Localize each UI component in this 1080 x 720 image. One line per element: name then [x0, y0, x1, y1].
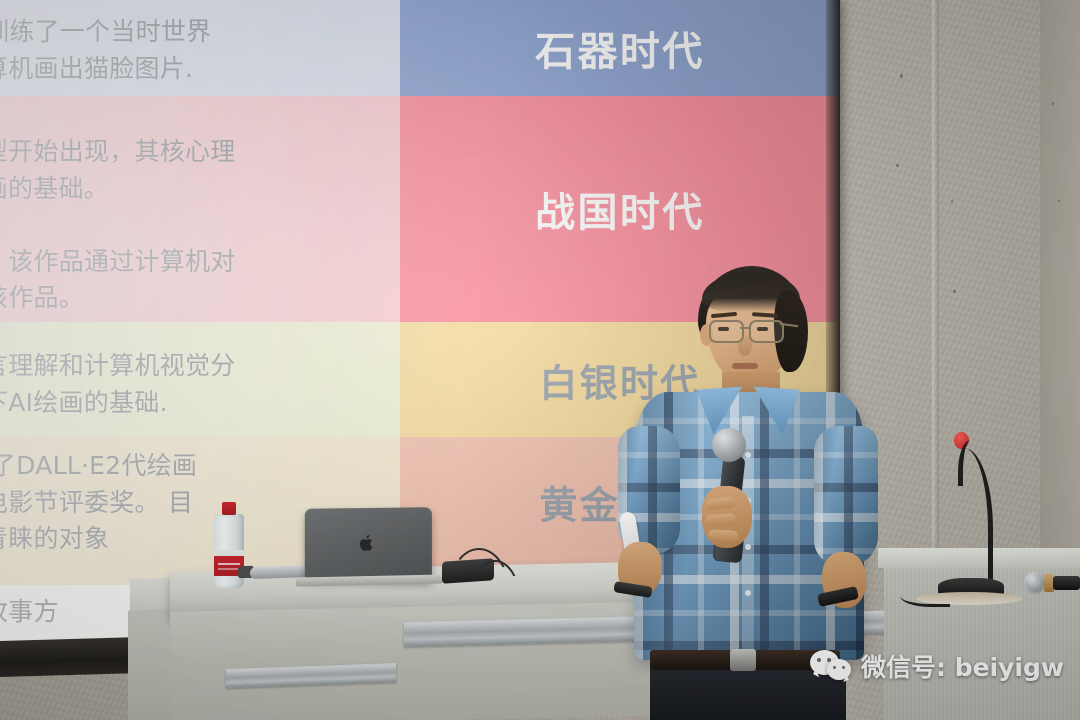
bottle-cap: [222, 502, 236, 515]
wall-speck: [896, 164, 899, 167]
presenter-mouth: [732, 363, 758, 369]
era-label-warring-states: 战国时代: [400, 180, 840, 238]
label-line: [218, 563, 240, 565]
glasses-bridge: [740, 327, 751, 329]
band-right-panel: 石器时代: [400, 0, 840, 96]
presenter-finger: [708, 529, 738, 541]
wechat-bubble-tail: [841, 675, 848, 682]
apple-logo: [359, 534, 375, 553]
glasses-lens: [749, 320, 784, 343]
watermark: 微信号: beiyigw: [810, 648, 1064, 684]
slide-text-warring-states: 度学习模型开始出现，其核心理 成为AI绘画的基础。 成的画作。该作品通过计算机对…: [0, 134, 352, 317]
wall-speck: [951, 200, 953, 203]
slide-text-stone-age: 万个CPU训练了一个当时世界 来指导计算机画出猫脸图片.: [0, 14, 352, 87]
shirt-button: [745, 452, 751, 458]
presenter-belt-buckle: [730, 649, 756, 671]
wall-speck: [1058, 200, 1060, 202]
wechat-eye-dot: [827, 658, 831, 662]
wechat-eye-dot: [833, 666, 836, 669]
macbook-laptop[interactable]: [305, 507, 432, 581]
wall-speck: [900, 74, 903, 78]
presenter-finger: [706, 513, 737, 526]
lecture-photo-scene: 石器时代 战国时代 白银时代 黄金时代: [0, 0, 1080, 720]
presenter-nose: [738, 336, 752, 356]
wechat-eye-dot: [842, 666, 845, 669]
wall-speck: [1052, 102, 1054, 105]
label-line: [218, 568, 240, 570]
shirt-shading: [814, 426, 878, 566]
era-label-stone-age: 石器时代: [400, 19, 840, 77]
wechat-icon: [810, 650, 852, 682]
presenter-right-arm: [814, 426, 878, 566]
handheld-microphone-head: [712, 428, 746, 462]
slide-text-silver-age: 行自然语言理解和计算机视觉分 成为了当下AI绘画的基础.: [0, 348, 352, 421]
slide-text-golden-age: AI 也发布了DALL·E2代绘画 获得戛纳电影节评委奖。 目 型，成为青睐的对…: [0, 448, 352, 558]
shirt-button: [745, 544, 751, 550]
wall-speck: [953, 290, 956, 293]
wechat-eye-dot: [817, 658, 821, 662]
stand-microphone-head: [1024, 572, 1046, 594]
stand-microphone-body: [1053, 576, 1080, 590]
watermark-text: 微信号: beiyigw: [861, 648, 1064, 684]
shirt-button: [745, 590, 751, 596]
